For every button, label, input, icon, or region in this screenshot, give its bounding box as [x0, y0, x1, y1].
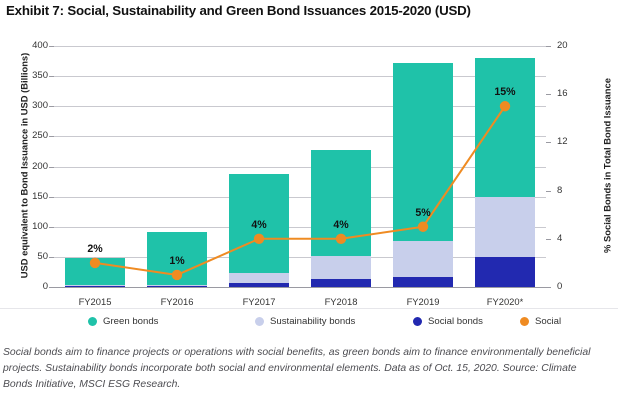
legend-label: Green bonds [103, 316, 158, 327]
line-data-point[interactable] [172, 270, 182, 280]
legend-divider [0, 308, 618, 309]
line-data-point[interactable] [90, 258, 100, 268]
x-axis-label: FY2018 [296, 296, 386, 307]
legend-swatch-icon [520, 317, 529, 326]
chart-plot-area: 050100150200250300350400048121620FY2015F… [54, 46, 546, 287]
legend-item[interactable]: Green bonds [88, 316, 158, 327]
gridline [54, 287, 546, 288]
x-axis-label: FY2015 [50, 296, 140, 307]
y-axis-left-tick: 350 [14, 70, 48, 81]
data-point-label: 15% [475, 86, 535, 98]
legend-label: Social [535, 316, 561, 327]
line-path [95, 106, 505, 275]
y-axis-right-tickmark [546, 94, 551, 95]
line-data-point[interactable] [500, 101, 510, 111]
data-point-label: 1% [147, 255, 207, 267]
y-axis-right-tick: 12 [557, 136, 587, 147]
data-point-label: 4% [229, 219, 289, 231]
x-axis-label: FY2020* [460, 296, 550, 307]
y-axis-right-tickmark [546, 142, 551, 143]
legend-item[interactable]: Social [520, 316, 561, 327]
y-axis-right-tick: 0 [557, 281, 587, 292]
chart-legend: Green bondsSustainability bondsSocial bo… [0, 316, 618, 336]
y-axis-right-tickmark [546, 46, 551, 47]
y-axis-left-tick: 50 [14, 251, 48, 262]
y-axis-right-title: % Social Bonds in Total Bond Issuance [602, 46, 613, 286]
legend-swatch-icon [255, 317, 264, 326]
legend-item[interactable]: Social bonds [413, 316, 483, 327]
y-axis-left-tick: 250 [14, 130, 48, 141]
chart-footnote: Social bonds aim to finance projects or … [3, 345, 603, 393]
legend-swatch-icon [413, 317, 422, 326]
social-percentage-line [54, 46, 546, 287]
y-axis-right-tick: 16 [557, 88, 587, 99]
y-axis-left-tick: 200 [14, 161, 48, 172]
y-axis-right-tickmark [546, 287, 551, 288]
x-axis-label: FY2016 [132, 296, 222, 307]
x-axis-label: FY2019 [378, 296, 468, 307]
legend-swatch-icon [88, 317, 97, 326]
y-axis-right-tick: 20 [557, 40, 587, 51]
line-data-point[interactable] [254, 234, 264, 244]
legend-label: Social bonds [428, 316, 483, 327]
y-axis-right-tickmark [546, 191, 551, 192]
y-axis-left-tickmark [49, 287, 54, 288]
line-data-point[interactable] [418, 222, 428, 232]
x-axis-label: FY2017 [214, 296, 304, 307]
y-axis-left-tick: 100 [14, 221, 48, 232]
data-point-label: 4% [311, 219, 371, 231]
page-title: Exhibit 7: Social, Sustainability and Gr… [6, 3, 471, 18]
y-axis-left-tick: 400 [14, 40, 48, 51]
y-axis-right-tick: 8 [557, 185, 587, 196]
y-axis-right-tick: 4 [557, 233, 587, 244]
y-axis-right-tickmark [546, 239, 551, 240]
line-data-point[interactable] [336, 234, 346, 244]
y-axis-left-tick: 0 [14, 281, 48, 292]
y-axis-left-tick: 300 [14, 100, 48, 111]
data-point-label: 5% [393, 207, 453, 219]
legend-item[interactable]: Sustainability bonds [255, 316, 355, 327]
y-axis-left-tick: 150 [14, 191, 48, 202]
legend-label: Sustainability bonds [270, 316, 355, 327]
data-point-label: 2% [65, 243, 125, 255]
